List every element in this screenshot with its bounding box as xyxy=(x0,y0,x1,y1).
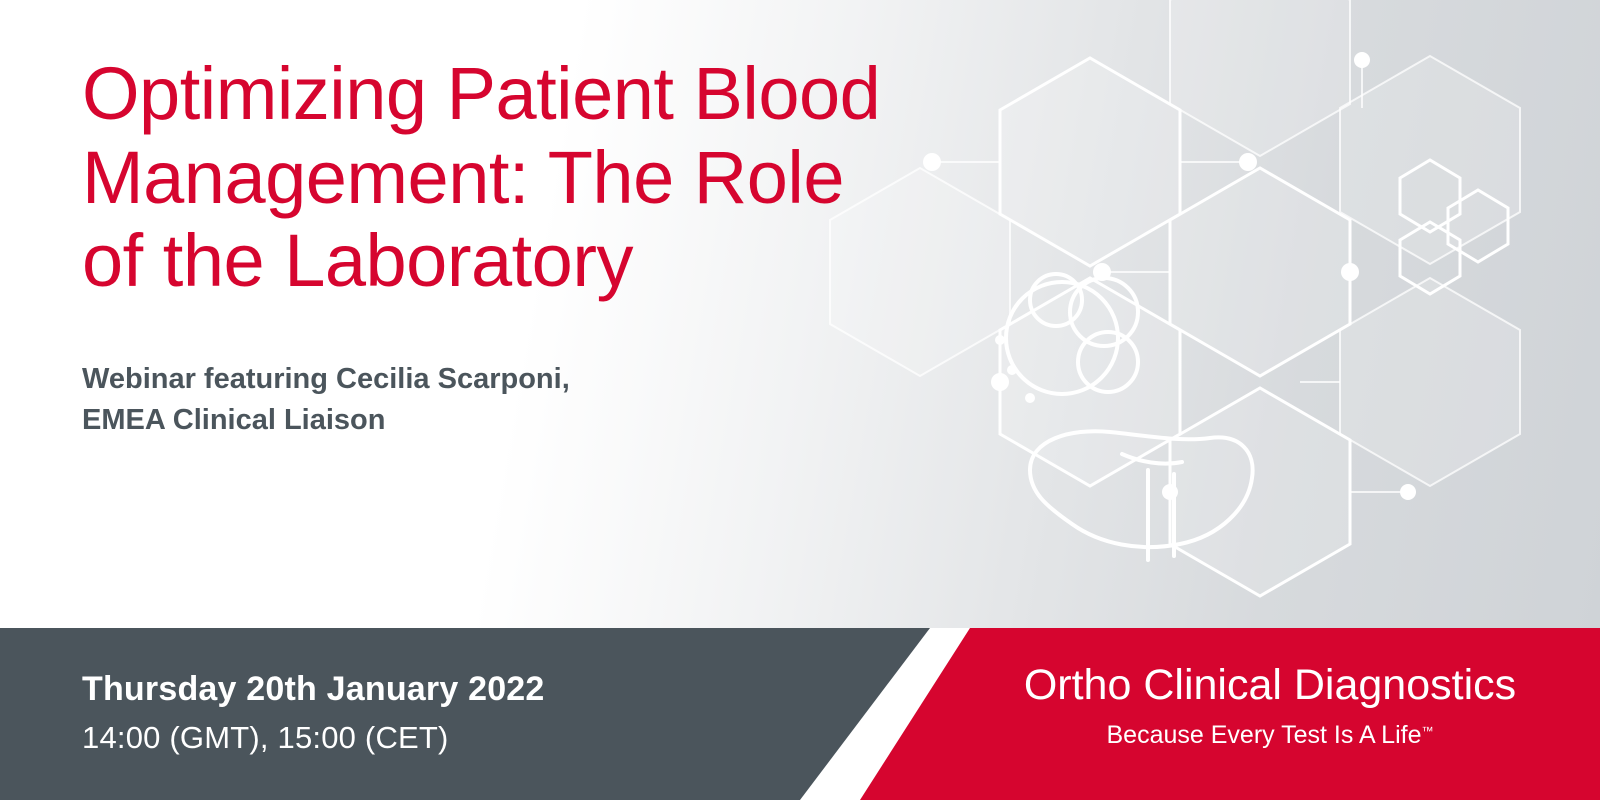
brand-name: Ortho Clinical Diagnostics xyxy=(1020,664,1520,707)
footer-bar: Thursday 20th January 2022 14:00 (GMT), … xyxy=(0,628,1600,800)
brand-tagline-text: Because Every Test Is A Life xyxy=(1107,721,1422,749)
brand-tagline: Because Every Test Is A Life™ xyxy=(1020,723,1520,748)
headline-block: Optimizing Patient Blood Management: The… xyxy=(82,52,1082,441)
event-date: Thursday 20th January 2022 xyxy=(82,670,545,709)
webinar-speaker-subtitle: Webinar featuring Cecilia Scarponi, EMEA… xyxy=(82,359,1082,441)
trademark-symbol: ™ xyxy=(1422,724,1434,738)
event-time: 14:00 (GMT), 15:00 (CET) xyxy=(82,720,449,756)
webinar-promo-banner: Optimizing Patient Blood Management: The… xyxy=(0,0,1600,800)
footer-date-panel xyxy=(0,628,930,800)
brand-logo: Ortho Clinical Diagnostics Because Every… xyxy=(1020,664,1520,748)
page-title: Optimizing Patient Blood Management: The… xyxy=(82,52,1082,303)
